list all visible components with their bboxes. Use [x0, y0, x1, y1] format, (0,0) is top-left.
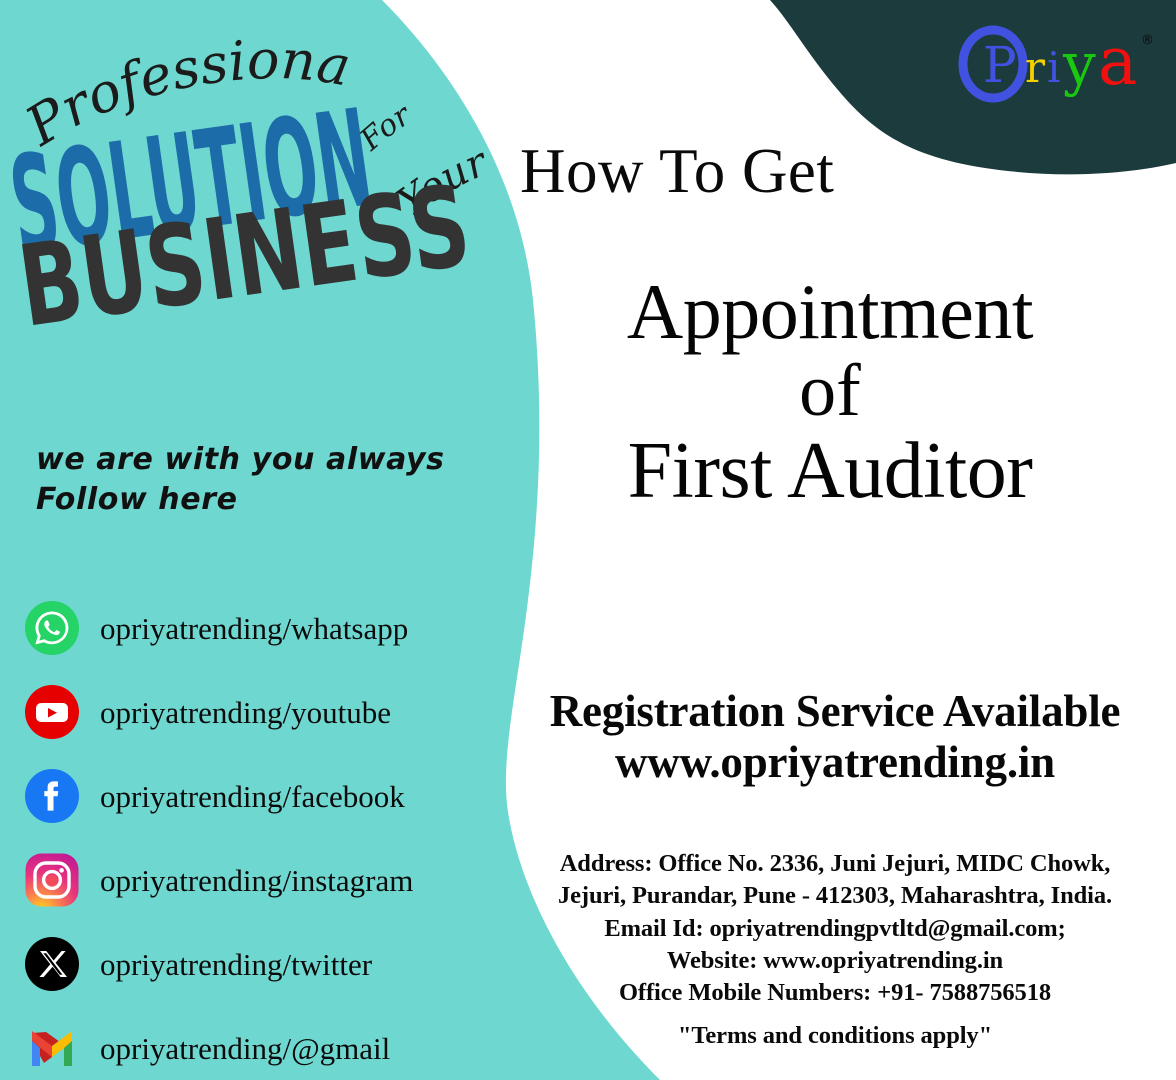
- social-label-twitter[interactable]: opriyatrending/twitter: [100, 949, 372, 980]
- youtube-icon[interactable]: [24, 684, 80, 740]
- headline-line-1: Appointment: [490, 272, 1170, 352]
- hero-lockup: Professional For Your SOLUTION BUSINESS: [18, 26, 518, 406]
- gmail-icon[interactable]: [24, 1020, 80, 1076]
- logo-letter-i: i: [1047, 43, 1060, 92]
- social-links-list: opriyatrending/whatsapp opriyatrending/y…: [24, 586, 524, 1080]
- social-label-gmail[interactable]: opriyatrending/@gmail: [100, 1033, 390, 1064]
- contact-website[interactable]: Website: www.opriyatrending.in: [510, 945, 1160, 977]
- contact-address-line-1: Address: Office No. 2336, Juni Jejuri, M…: [510, 848, 1160, 880]
- social-row-whatsapp[interactable]: opriyatrending/whatsapp: [24, 586, 524, 670]
- contact-block: Address: Office No. 2336, Juni Jejuri, M…: [510, 848, 1160, 1052]
- social-row-instagram[interactable]: opriyatrending/instagram: [24, 838, 524, 922]
- twitter-x-icon[interactable]: [24, 936, 80, 992]
- logo-trademark-icon: ®: [1141, 33, 1154, 48]
- facebook-icon[interactable]: [24, 768, 80, 824]
- left-panel: Professional For Your SOLUTION BUSINESS …: [0, 0, 540, 1080]
- contact-phone[interactable]: Office Mobile Numbers: +91- 7588756518: [510, 977, 1160, 1009]
- promo-block: Registration Service Available www.opriy…: [494, 686, 1176, 789]
- instagram-icon[interactable]: [24, 852, 80, 908]
- social-label-instagram[interactable]: opriyatrending/instagram: [100, 865, 413, 896]
- social-label-facebook[interactable]: opriyatrending/facebook: [100, 781, 405, 812]
- social-row-twitter[interactable]: opriyatrending/twitter: [24, 922, 524, 1006]
- logo-letter-r: r: [1025, 43, 1046, 92]
- logo-letter-P: P: [983, 36, 1017, 94]
- tagline-block: we are with you always Follow here: [36, 440, 506, 520]
- right-panel: How To Get Appointment of First Auditor …: [480, 0, 1176, 1080]
- social-row-youtube[interactable]: opriyatrending/youtube: [24, 670, 524, 754]
- social-label-youtube[interactable]: opriyatrending/youtube: [100, 697, 391, 728]
- tagline-line-1: we are with you always: [36, 442, 445, 477]
- promo-line-2[interactable]: www.opriyatrending.in: [494, 736, 1176, 789]
- promo-line-1: Registration Service Available: [494, 686, 1176, 736]
- social-row-gmail[interactable]: opriyatrending/@gmail: [24, 1006, 524, 1080]
- social-label-whatsapp[interactable]: opriyatrending/whatsapp: [100, 613, 408, 644]
- contact-email[interactable]: Email Id: opriyatrendingpvtltd@gmail.com…: [510, 913, 1160, 945]
- whatsapp-icon[interactable]: [24, 600, 80, 656]
- headline-block: Appointment of First Auditor: [490, 272, 1170, 513]
- contact-address-line-2: Jejuri, Purandar, Pune - 412303, Maharas…: [510, 880, 1160, 912]
- logo-letter-y: y: [1062, 30, 1096, 98]
- tagline-line-2: Follow here: [36, 480, 506, 520]
- headline-line-2: of: [490, 354, 1170, 429]
- headline-line-3: First Auditor: [490, 431, 1170, 513]
- logo-letter-a: a: [1098, 23, 1137, 100]
- social-row-facebook[interactable]: opriyatrending/facebook: [24, 754, 524, 838]
- contact-terms: "Terms and conditions apply": [510, 1020, 1160, 1052]
- brand-logo[interactable]: P r i y a ®: [955, 22, 1160, 122]
- kicker-text: How To Get: [520, 140, 834, 203]
- poster-canvas: Professional For Your SOLUTION BUSINESS …: [0, 0, 1176, 1080]
